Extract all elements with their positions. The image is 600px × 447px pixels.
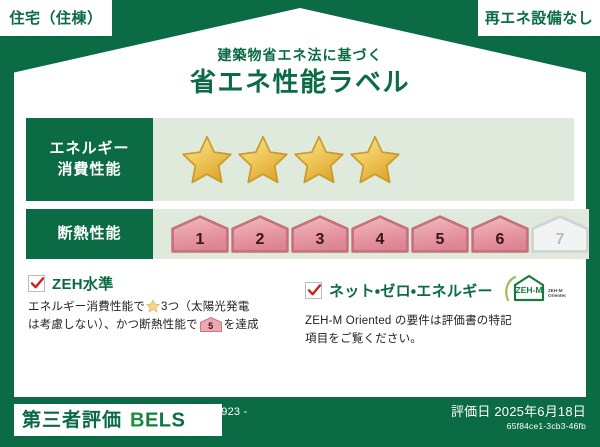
energy-performance-label: 住宅（住棟） 再エネ設備なし 建築物省エネ法に基づく 省エネ性能ラベル エネルギ… <box>0 0 600 447</box>
zeh-m-logo-icon: ZEH-M ZEH-M Oriented <box>504 273 566 303</box>
evaluation-date: 評価日 2025年6月18日 <box>451 405 586 419</box>
net-zero-energy-title: ネット・ゼロ・エネルギー <box>329 280 493 301</box>
row-energy-label-line2: 消費性能 <box>57 160 121 180</box>
house-icon <box>411 215 469 253</box>
row-insulation-performance: 断熱性能 1234567 <box>26 209 574 259</box>
zeh-m-logo: ZEH-M ZEH-M Oriented <box>504 273 566 308</box>
insulation-level-5: 5 <box>411 215 469 253</box>
badge-building-type: 住宅（住棟） <box>0 0 112 36</box>
certificate-number-line1: 0282923 - <box>196 406 247 420</box>
zeh-standard-body: エネルギー消費性能で3つ（太陽光発電 は考慮しない）、かつ断熱性能で5を達成 <box>28 299 295 335</box>
third-party-evaluation-label: 第三者評価 <box>22 411 122 430</box>
header-subtitle: 建築物省エネ法に基づく <box>0 48 600 62</box>
row-energy-performance: エネルギー 消費性能 <box>26 118 574 201</box>
insulation-level-6: 6 <box>471 215 529 253</box>
house-icon <box>531 215 589 253</box>
house-icon <box>231 215 289 253</box>
zeh-standard-checkbox <box>28 275 45 292</box>
evaluation-hash: 65f84ce1-3cb3-46fb <box>451 421 586 432</box>
insulation-level-scale: 1234567 <box>153 215 589 253</box>
insulation-level-1: 1 <box>171 215 229 253</box>
insulation-level-2: 2 <box>231 215 289 253</box>
house-icon <box>471 215 529 253</box>
insulation-level-3: 3 <box>291 215 349 253</box>
net-zero-energy-body: ZEH-M Oriented の要件は評価書の特記 項目をご覧ください。 <box>305 313 572 349</box>
net-zero-energy-body-line2: 項目をご覧ください。 <box>305 333 422 345</box>
row-insulation-value: 1234567 <box>153 209 589 259</box>
evaluation-date-value: 2025年6月18日 <box>494 404 586 419</box>
certificate-number: 0282923 - 01 <box>196 406 247 434</box>
page-title: 省エネ性能ラベル <box>0 69 600 95</box>
row-energy-value <box>153 118 574 201</box>
evaluation-info: 評価日 2025年6月18日 65f84ce1-3cb3-46fb <box>451 405 586 432</box>
zeh-standard-header: ZEH水準 <box>28 273 295 294</box>
zeh-standard-block: ZEH水準 エネルギー消費性能で3つ（太陽光発電 は考慮しない）、かつ断熱性能で… <box>28 273 295 349</box>
star-icon <box>237 134 289 186</box>
house-icon <box>171 215 229 253</box>
zeh-standard-title: ZEH水準 <box>52 273 114 294</box>
zeh-standard-body-part3: は考慮しない）、かつ断熱性能で <box>28 319 198 331</box>
row-insulation-label-text: 断熱性能 <box>57 224 121 244</box>
check-icon <box>307 283 322 298</box>
badge-renewable-energy: 再エネ設備なし <box>478 0 600 36</box>
star-rating <box>153 134 401 186</box>
insulation-badge-inline: 5 <box>200 317 222 332</box>
net-zero-energy-header: ネット・ゼロ・エネルギー ZEH-M ZEH-M Oriented <box>305 273 572 308</box>
star-icon-inline <box>146 299 160 313</box>
row-energy-label-line1: エネルギー <box>49 139 129 159</box>
zeh-section: ZEH水準 エネルギー消費性能で3つ（太陽光発電 は考慮しない）、かつ断熱性能で… <box>14 267 586 349</box>
bels-certification-mark: 第三者評価 BELS <box>14 404 222 436</box>
house-icon <box>291 215 349 253</box>
zeh-standard-body-part1: エネルギー消費性能で <box>28 301 145 313</box>
evaluation-date-label: 評価日 <box>451 404 491 419</box>
svg-text:Oriented: Oriented <box>548 293 566 298</box>
footer: 第三者評価 BELS 0282923 - 01 評価日 2025年6月18日 <box>0 397 600 447</box>
house-icon <box>351 215 409 253</box>
svg-text:BELS: BELS <box>130 409 185 431</box>
row-insulation-label: 断熱性能 <box>26 209 153 259</box>
star-icon <box>349 134 401 186</box>
star-icon <box>181 134 233 186</box>
insulation-level-4: 4 <box>351 215 409 253</box>
net-zero-energy-body-line1: ZEH-M Oriented の要件は評価書の特記 <box>305 315 512 327</box>
net-zero-energy-checkbox <box>305 282 322 299</box>
main-panel: エネルギー 消費性能 断熱性能 1234567 <box>14 106 586 397</box>
zeh-standard-body-part4: を達成 <box>224 319 259 331</box>
star-icon <box>293 134 345 186</box>
header: 建築物省エネ法に基づく 省エネ性能ラベル <box>0 48 600 95</box>
net-zero-energy-block: ネット・ゼロ・エネルギー ZEH-M ZEH-M Oriented ZEH-M … <box>305 273 572 349</box>
certificate-number-line2: 01 <box>196 420 247 434</box>
svg-text:ZEH-M: ZEH-M <box>515 285 542 295</box>
insulation-badge-inline-number: 5 <box>200 322 222 331</box>
insulation-level-7: 7 <box>531 215 589 253</box>
check-icon <box>30 276 45 291</box>
row-energy-label: エネルギー 消費性能 <box>26 118 153 201</box>
performance-rows: エネルギー 消費性能 断熱性能 1234567 <box>14 106 586 259</box>
zeh-standard-body-part2: 3つ（太陽光発電 <box>161 301 250 313</box>
